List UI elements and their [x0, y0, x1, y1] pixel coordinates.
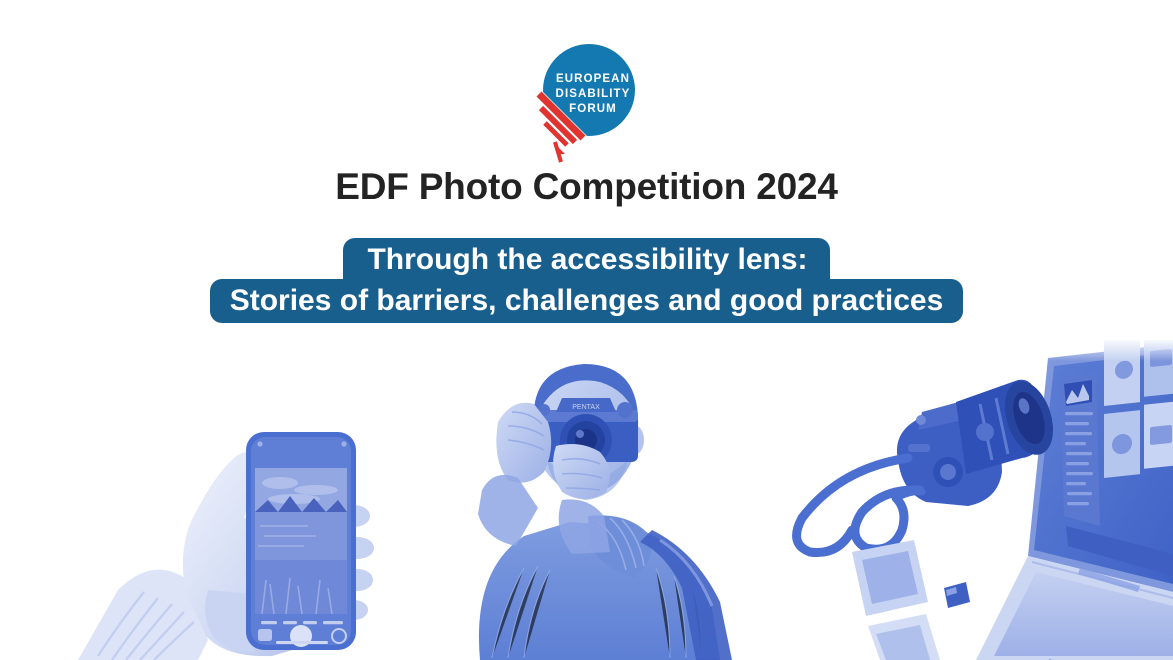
camera-brand-label: PENTAX [572, 404, 600, 411]
subtitle-row-2: Stories of barriers, challenges and good… [0, 278, 1173, 323]
logo-text-line-1: EUROPEAN [556, 73, 630, 85]
photo-person-with-film-camera: PENTAX [420, 340, 770, 660]
logo-text-line-3: FORUM [569, 103, 617, 115]
photo-center-illustration: PENTAX [420, 340, 770, 660]
subtitle-row-1: Through the accessibility lens: [0, 238, 1173, 282]
photo-dslr-camera-and-laptop [780, 340, 1173, 660]
printed-photos [852, 540, 940, 660]
subtitle-line-2: Stories of barriers, challenges and good… [210, 279, 964, 323]
photo-left-illustration [58, 340, 418, 660]
european-disability-forum-logo: EUROPEAN DISABILITY FORUM [527, 38, 647, 163]
sd-memory-card [944, 582, 970, 608]
subtitle-line-1: Through the accessibility lens: [343, 238, 829, 282]
photo-strip: PENTAX [0, 340, 1173, 660]
subtitle-block: Through the accessibility lens: Stories … [0, 238, 1173, 323]
logo-container: EUROPEAN DISABILITY FORUM [0, 38, 1173, 163]
poster-canvas: EUROPEAN DISABILITY FORUM EDF Photo Comp… [0, 0, 1173, 660]
logo-text-line-2: DISABILITY [555, 88, 630, 100]
photo-right-illustration [780, 340, 1173, 660]
page-title: EDF Photo Competition 2024 [0, 167, 1173, 208]
photo-hand-holding-smartphone [58, 340, 418, 660]
